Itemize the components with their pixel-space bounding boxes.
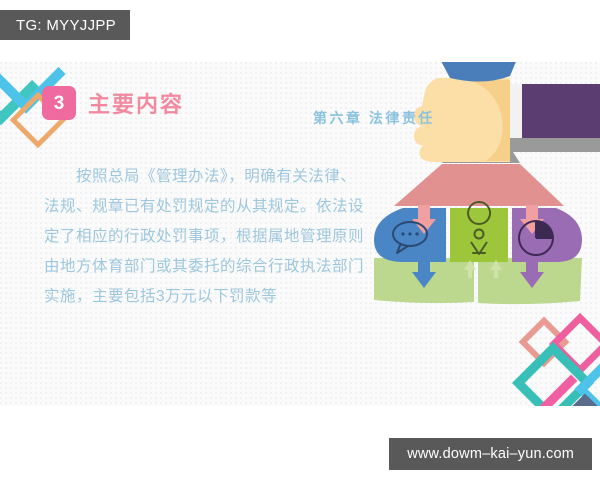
sleeve-purple [520,84,600,138]
tg-channel-badge: TG: MYYJJPP [0,10,130,40]
sleeve-cuff [510,84,522,140]
chapter-heading: 第六章 法律责任 [313,108,435,128]
section-number-badge: 3 [42,86,76,120]
slide-canvas: 3 主要内容 第六章 法律责任 按照总局《管理办法》，明确有关法律、法规、规章已… [0,62,600,406]
illustration-hand-funnel [368,62,600,342]
salmon-trapezoid [394,164,564,206]
section-title: 3 主要内容 [42,86,184,120]
site-watermark-label: www.dowm–kai–yun.com [407,446,574,462]
tg-channel-badge-label: TG: MYYJJPP [16,17,116,34]
site-watermark: www.dowm–kai–yun.com [389,438,592,470]
section-title-label: 主要内容 [88,87,184,119]
body-paragraph: 按照总局《管理办法》，明确有关法律、法规、规章已有处罚规定的从其规定。依法设定了… [44,162,364,312]
forearm-band [510,138,600,152]
